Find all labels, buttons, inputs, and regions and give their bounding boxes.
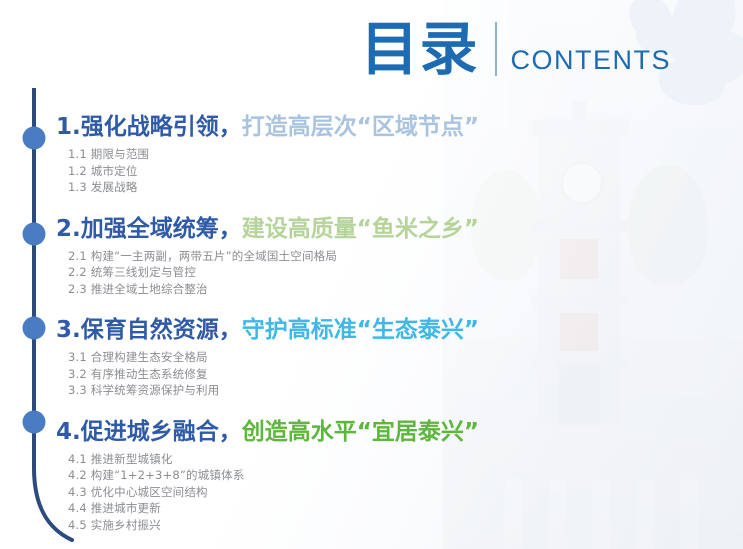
section-1-heading-accent: 打造高层次“区域节点” xyxy=(242,114,479,140)
list-item[interactable]: 4.2 构建“1+2+3+8”的城镇体系 xyxy=(68,467,526,484)
list-item[interactable]: 1.2 城市定位 xyxy=(68,163,526,180)
section-3-heading-primary: 3.保育自然资源， xyxy=(56,317,242,343)
photo-clock-tower xyxy=(538,135,620,425)
photo-tower-arch xyxy=(558,363,600,425)
section-1-heading-primary: 1.强化战略引领， xyxy=(56,114,242,140)
list-item[interactable]: 2.2 统筹三线划定与管控 xyxy=(68,264,526,281)
section-2-heading-primary: 2.加强全域统筹， xyxy=(56,216,242,242)
list-item[interactable]: 2.3 推进全域土地综合整治 xyxy=(68,281,526,298)
photo-tree-right xyxy=(628,165,708,285)
timeline-bullet-3 xyxy=(23,317,46,340)
list-item[interactable]: 4.1 推进新型城镇化 xyxy=(68,451,526,468)
timeline-bullet-1 xyxy=(23,127,46,150)
photo-tower-spire xyxy=(572,101,586,121)
photo-tower-band-2 xyxy=(531,295,627,306)
page-title-cn: 目录 xyxy=(360,18,478,80)
photo-tower-cap xyxy=(529,119,629,137)
list-item[interactable]: 1.3 发展战略 xyxy=(68,179,526,196)
photo-tower-band-3 xyxy=(531,357,627,368)
list-item[interactable]: 4.5 实施乡村振兴 xyxy=(68,517,526,534)
contents-section-1[interactable]: 1.强化战略引领，打造高层次“区域节点” 1.1 期限与范围 1.2 城市定位 … xyxy=(56,112,526,196)
section-4-subitems: 4.1 推进新型城镇化 4.2 构建“1+2+3+8”的城镇体系 4.3 优化中… xyxy=(68,451,526,534)
photo-colonnade xyxy=(505,477,735,549)
section-1-heading: 1.强化战略引领，打造高层次“区域节点” xyxy=(56,112,526,142)
slide-header: 目录 CONTENTS xyxy=(360,18,671,80)
page-title-en: CONTENTS xyxy=(511,45,672,80)
list-item[interactable]: 1.1 期限与范围 xyxy=(68,146,526,163)
section-1-subitems: 1.1 期限与范围 1.2 城市定位 1.3 发展战略 xyxy=(68,146,526,196)
list-item[interactable]: 2.1 构建“一主两副，两带五片”的全域国土空间格局 xyxy=(68,248,526,265)
slide-canvas: 目录 CONTENTS 1.强化战略引领，打造高层次“区域节点” 1.1 期限与… xyxy=(0,0,743,549)
section-4-heading-accent: 创造高水平“宜居泰兴” xyxy=(242,419,479,445)
section-2-heading: 2.加强全域统筹，建设高质量“鱼米之乡” xyxy=(56,214,526,244)
list-item[interactable]: 3.2 有序推动生态系统修复 xyxy=(68,366,526,383)
section-4-heading: 4.促进城乡融合，创造高水平“宜居泰兴” xyxy=(56,417,526,447)
photo-tower-clock xyxy=(560,161,604,205)
list-item[interactable]: 3.3 科学统筹资源保护与利用 xyxy=(68,382,526,399)
contents-section-3[interactable]: 3.保育自然资源，守护高标准“生态泰兴” 3.1 合理构建生态安全格局 3.2 … xyxy=(56,315,526,399)
timeline-bullet-4 xyxy=(23,411,46,434)
section-4-heading-primary: 4.促进城乡融合， xyxy=(56,419,242,445)
contents-section-2[interactable]: 2.加强全域统筹，建设高质量“鱼米之乡” 2.1 构建“一主两副，两带五片”的全… xyxy=(56,214,526,298)
section-3-subitems: 3.1 合理构建生态安全格局 3.2 有序推动生态系统修复 3.3 科学统筹资源… xyxy=(68,349,526,399)
photo-tower-leg-left xyxy=(540,361,557,425)
photo-tower-door-1 xyxy=(560,239,598,279)
contents-section-4[interactable]: 4.促进城乡融合，创造高水平“宜居泰兴” 4.1 推进新型城镇化 4.2 构建“… xyxy=(56,417,526,534)
list-item[interactable]: 4.4 推进城市更新 xyxy=(68,500,526,517)
contents-list: 1.强化战略引领，打造高层次“区域节点” 1.1 期限与范围 1.2 城市定位 … xyxy=(56,112,526,533)
list-item[interactable]: 3.1 合理构建生态安全格局 xyxy=(68,349,526,366)
section-2-subitems: 2.1 构建“一主两副，两带五片”的全域国土空间格局 2.2 统筹三线划定与管控… xyxy=(68,248,526,298)
photo-tower-band-1 xyxy=(531,221,627,232)
section-3-heading: 3.保育自然资源，守护高标准“生态泰兴” xyxy=(56,315,526,345)
photo-tower-door-2 xyxy=(560,313,598,351)
section-3-heading-accent: 守护高标准“生态泰兴” xyxy=(242,317,479,343)
photo-tower-leg-right xyxy=(601,361,618,425)
section-2-heading-accent: 建设高质量“鱼米之乡” xyxy=(242,216,479,242)
timeline-bullet-2 xyxy=(23,223,46,246)
title-divider xyxy=(495,22,497,76)
list-item[interactable]: 4.3 优化中心城区空间结构 xyxy=(68,484,526,501)
